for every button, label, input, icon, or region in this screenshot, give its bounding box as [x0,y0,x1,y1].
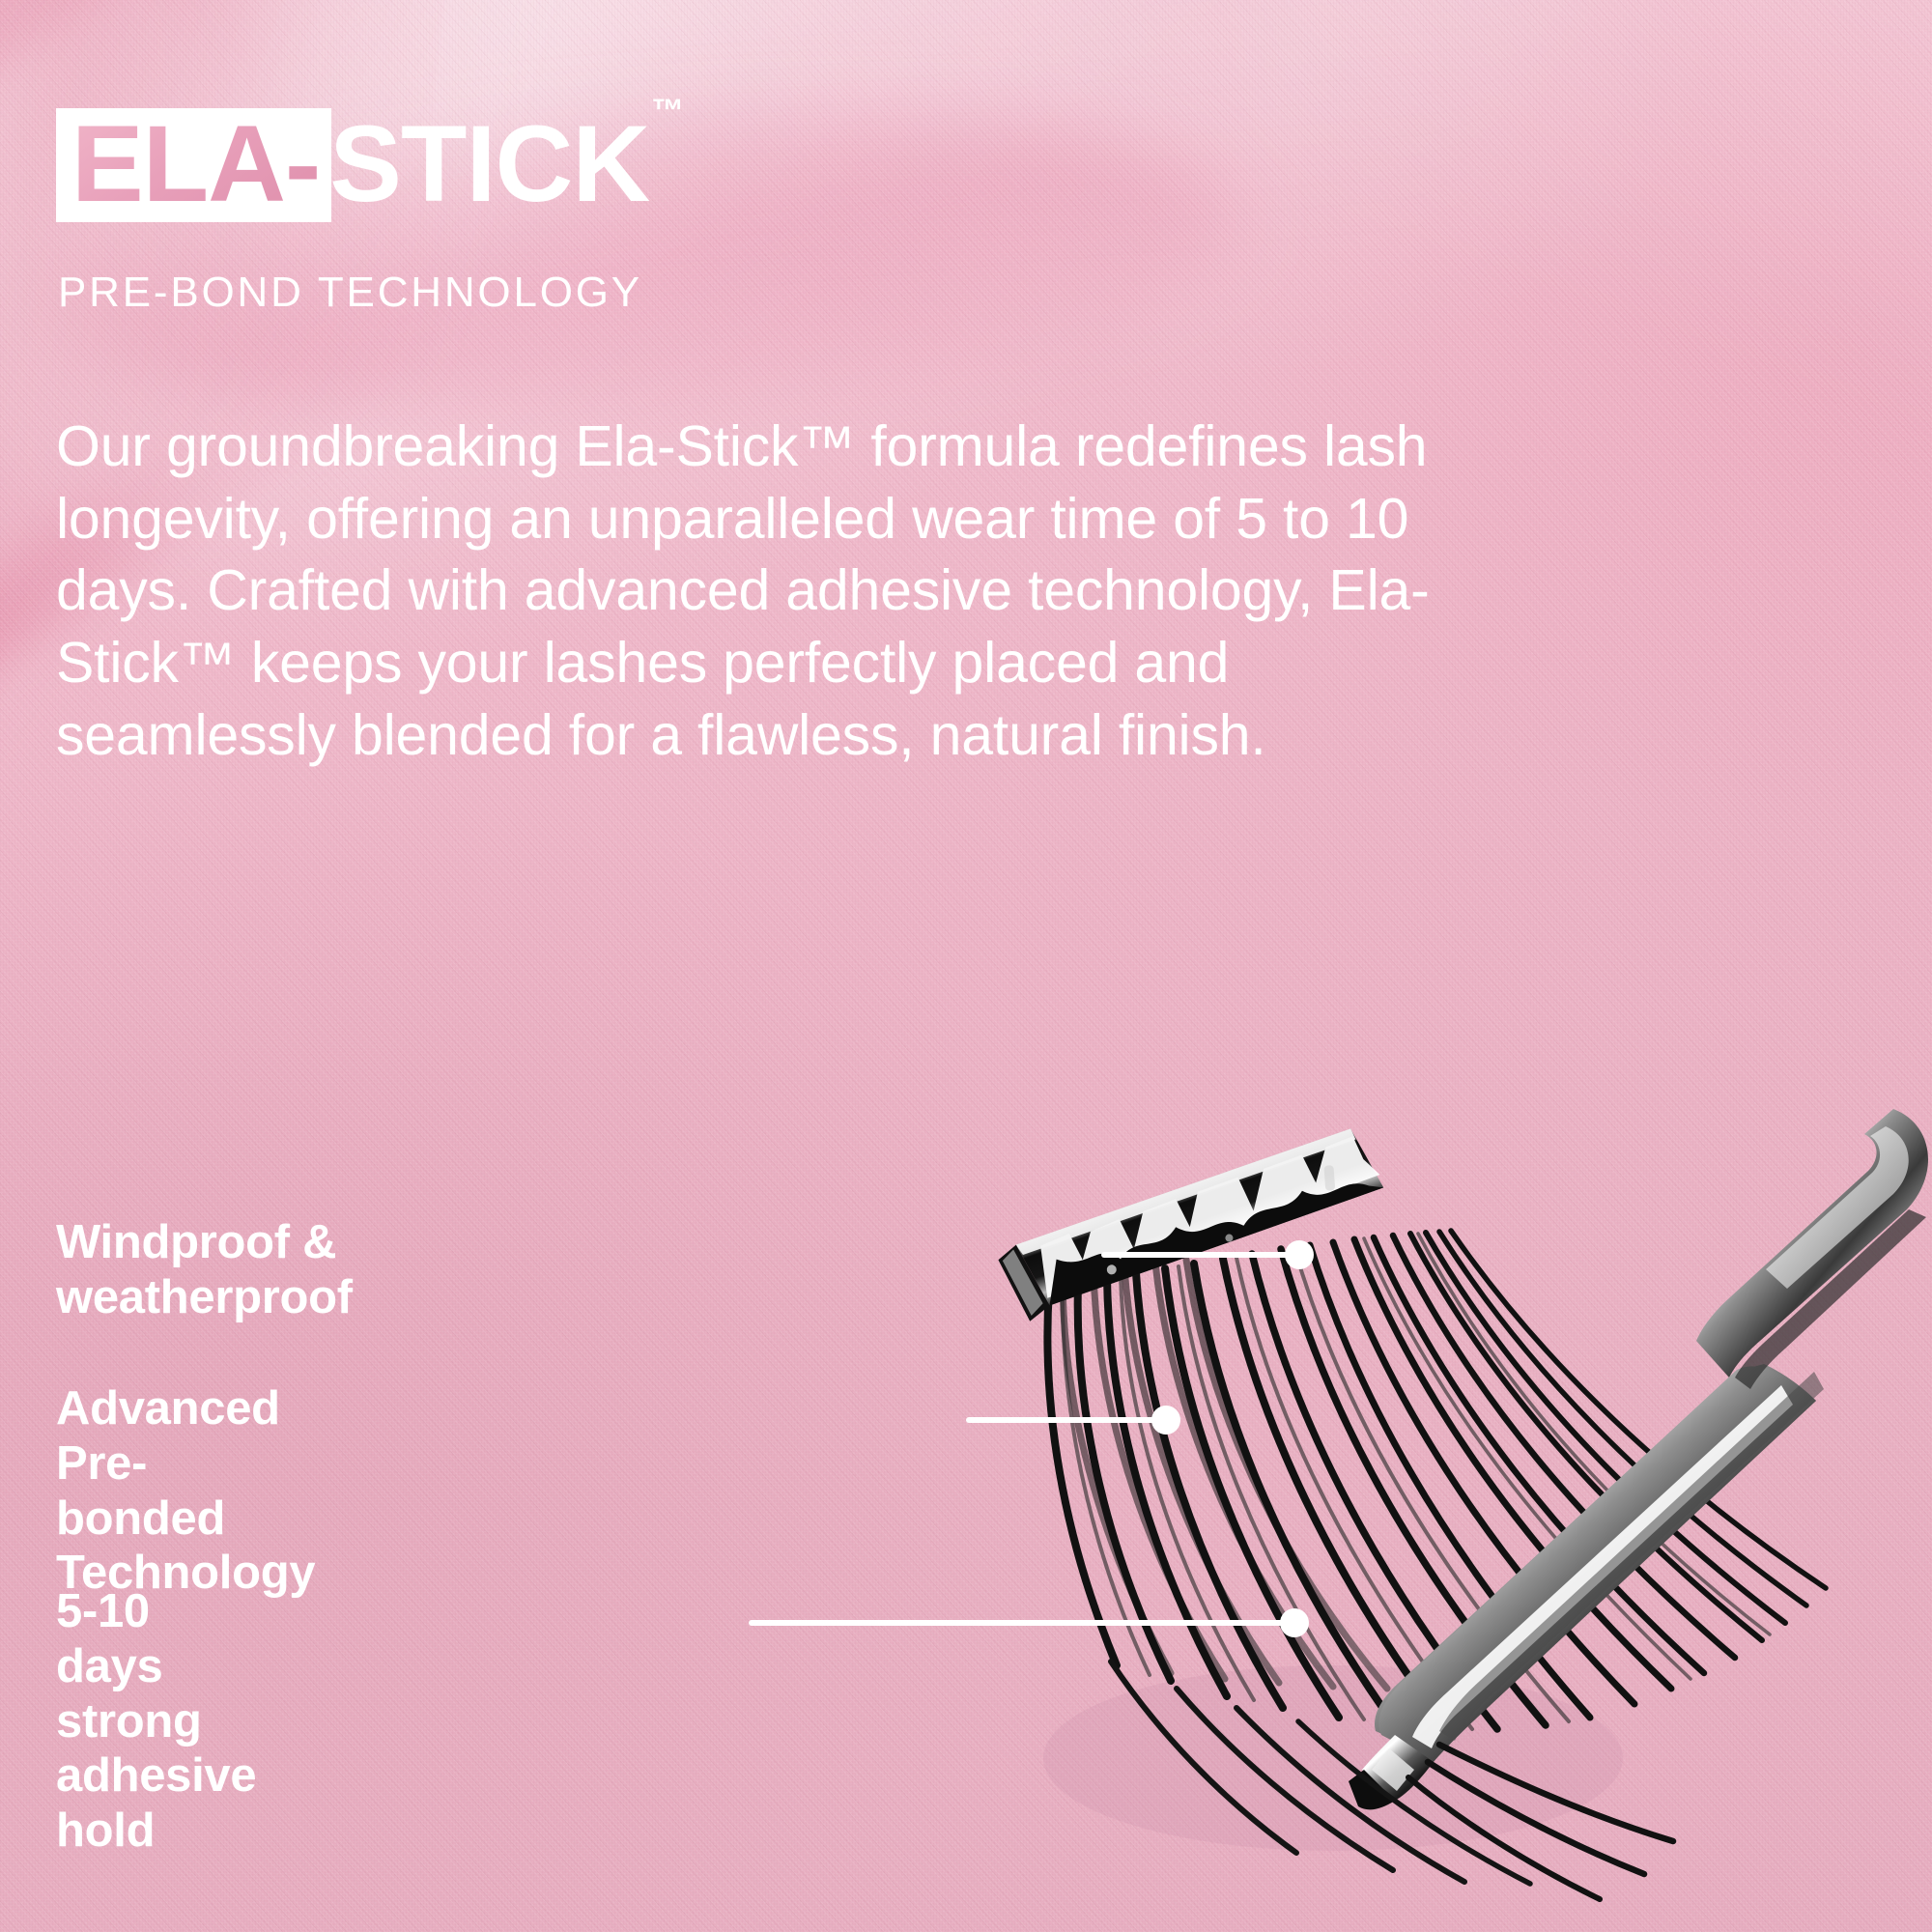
connector-dot [1285,1240,1314,1269]
connector-line [1101,1252,1300,1258]
feature-connector-windproof [1101,1240,1314,1269]
feature-label-windproof: Windproof & weatherproof [56,1215,353,1325]
connector-dot [1151,1406,1180,1435]
feature-label-prebonded: Advanced Pre-bonded Technology [56,1381,315,1601]
feature-label-adhesive-hold: 5-10 days strong adhesive hold [56,1584,256,1859]
connector-dot [1280,1608,1309,1637]
connector-line [966,1417,1167,1423]
connector-line [749,1620,1295,1626]
feature-connector-prebonded [966,1406,1180,1435]
feature-list: Windproof & weatherproof Advanced Pre-bo… [0,0,1932,1932]
poster-canvas: ELA- STICK™ PRE-BOND TECHNOLOGY Our grou… [0,0,1932,1932]
feature-connector-adhesive-hold [749,1608,1309,1637]
